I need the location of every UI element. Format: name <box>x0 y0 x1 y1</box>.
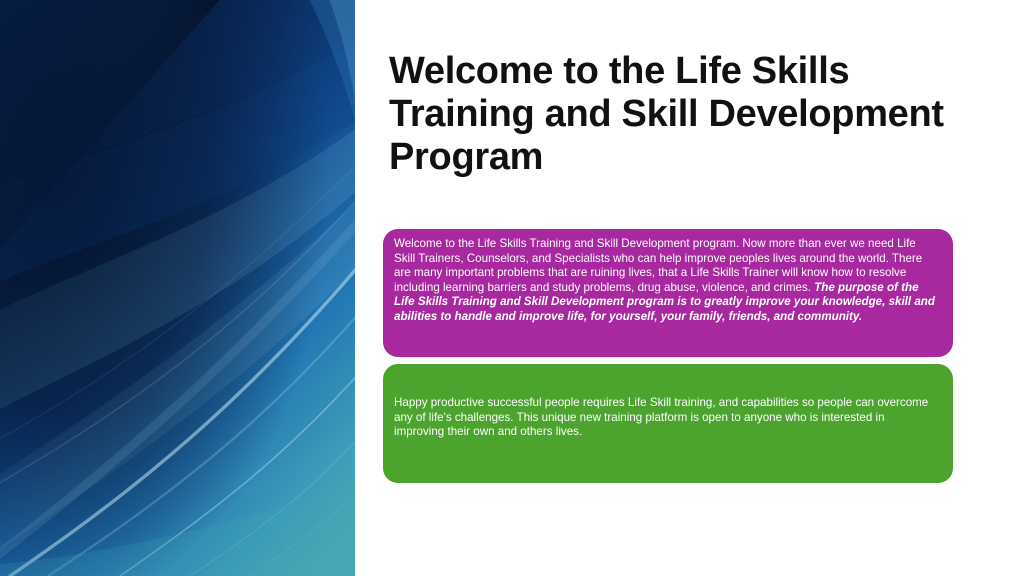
green-card-paragraph: Happy productive successful people requi… <box>394 396 931 440</box>
purple-intro-card: Welcome to the Life Skills Training and … <box>383 229 953 357</box>
abstract-blue-swoosh-graphic <box>0 0 355 576</box>
purple-card-paragraph: Welcome to the Life Skills Training and … <box>394 237 937 325</box>
slide-canvas: Welcome to the Life Skills Training and … <box>0 0 1024 576</box>
green-benefits-card: Happy productive successful people requi… <box>383 364 953 483</box>
green-card-body-text: Happy productive successful people requi… <box>394 396 928 438</box>
page-title: Welcome to the Life Skills Training and … <box>389 50 949 179</box>
decorative-blue-panel <box>0 0 355 576</box>
